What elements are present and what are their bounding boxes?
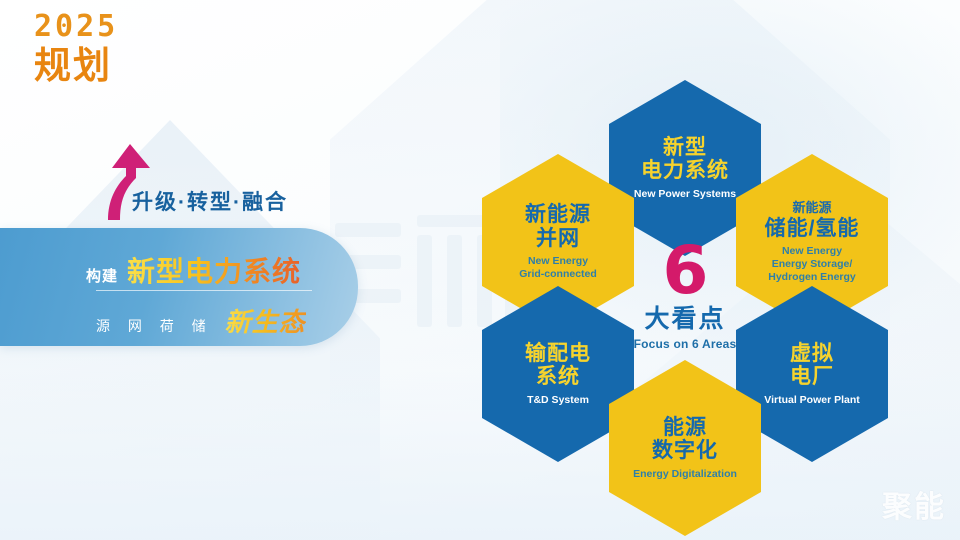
logo-word: 规划 [34, 47, 118, 84]
hexagon-en-label: New Power Systems [634, 188, 736, 201]
tagline: 升级·转型·融合 [132, 186, 288, 216]
banner-headline-row: 构建 新型电力系统 [86, 250, 301, 290]
hexagon-cn-line2: 电力系统 [641, 159, 729, 183]
hexagon-cn-line2: 系统 [536, 365, 580, 389]
focus-cn-label: 大看点 [644, 306, 725, 334]
infographic-slide: 2025 规划 升级·转型·融合 构建 新型电力系统 源 网 荷 储 新生态 新… [0, 0, 960, 540]
hexagon-cn-line1: 输配电 [525, 342, 591, 366]
hexagon-cn-line2: 并网 [536, 227, 580, 251]
hexagon-en-line1: New Energy [528, 255, 588, 268]
focus-center: 6 大看点 Focus on 6 Areas [609, 208, 761, 384]
hexagon-cn-line2: 数字化 [652, 439, 718, 463]
logo-year: 2025 [34, 12, 118, 42]
hexagon-en-line2: Energy Storage/ [772, 258, 853, 271]
hexagon-cn-small: 新能源 [792, 201, 831, 216]
hexagon-en-line2: Grid-connected [519, 268, 597, 281]
hexagon-cluster: 新型 电力系统 New Power Systems 新能源 并网 New Ene… [460, 68, 910, 498]
hexagon-cn-line2: 电厂 [790, 365, 834, 389]
banner-subtitle: 源 网 荷 储 [96, 316, 213, 336]
hexagon-en-label: T&D System [527, 394, 589, 407]
banner-subtitle-row: 源 网 荷 储 新生态 [96, 302, 306, 339]
hexagon-cn-line1: 虚拟 [790, 342, 834, 366]
hexagon-en-line3: Hydrogen Energy [768, 271, 856, 284]
corner-watermark: 聚能 [882, 482, 946, 526]
hexagon-en-label: Virtual Power Plant [764, 394, 860, 407]
hexagon-cn-line1: 新能源 [525, 203, 591, 227]
banner-prefix: 构建 [86, 265, 118, 286]
hexagon-en-label: Energy Digitalization [633, 468, 737, 481]
focus-en-label: Focus on 6 Areas [634, 337, 737, 351]
hexagon-cn-line1: 能源 [663, 416, 707, 440]
banner-eco-label: 新生态 [225, 302, 306, 339]
hexagon-en-line1: New Energy [782, 245, 842, 258]
banner-headline: 新型电力系统 [127, 250, 301, 290]
hexagon-cn-line1: 储能/氢能 [765, 217, 860, 241]
headline-banner: 构建 新型电力系统 源 网 荷 储 新生态 [0, 228, 358, 346]
logo: 2025 规划 [34, 12, 118, 84]
focus-number: 6 [663, 241, 708, 302]
banner-divider [96, 290, 312, 291]
hexagon-cn-line1: 新型 [663, 136, 707, 160]
